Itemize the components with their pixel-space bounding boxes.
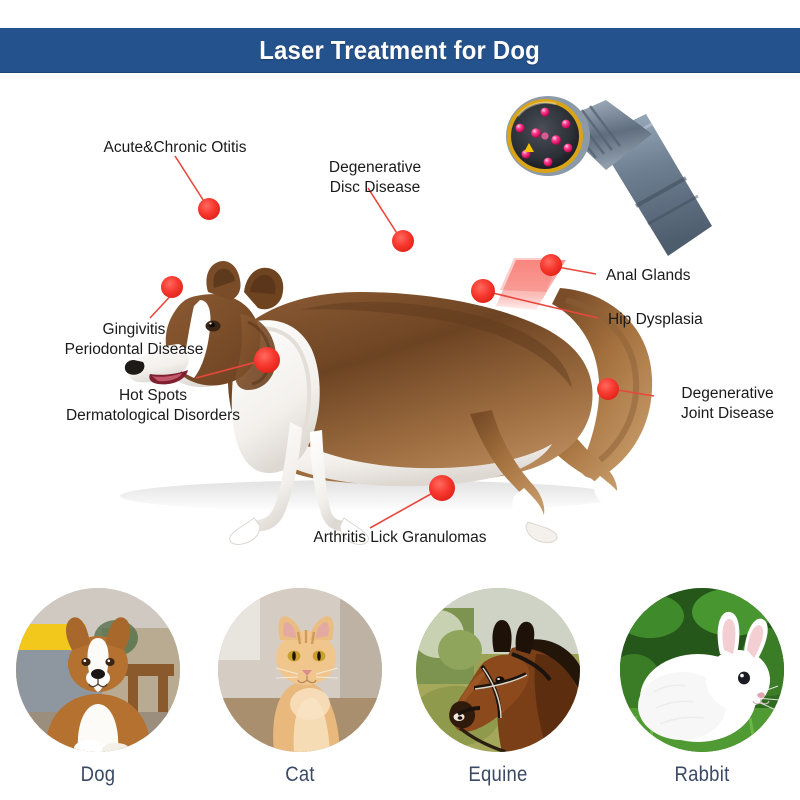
equine-photo [416,588,580,752]
laser-treatment-diagram: Acute&Chronic Otitis Degenerative Disc D… [0,78,800,558]
species-item-dog[interactable]: Dog [14,588,182,787]
callout-hot-spots-dermatological-disorders: Hot Spots Dermatological Disorders [38,386,268,426]
callout-line: Disc Disease [310,178,440,198]
rabbit-thumbnail[interactable] [620,588,784,752]
callout-line: Gingivitis [24,320,244,340]
callout-line: Dermatological Disorders [38,406,268,426]
rabbit-photo [620,588,784,752]
species-item-cat[interactable]: Cat [216,588,384,787]
dog-thumbnail[interactable] [16,588,180,752]
dog-photo [16,588,180,752]
callout-line: Hip Dysplasia [608,310,778,330]
species-label-equine: Equine [424,763,572,787]
marker-gingivitis [161,276,183,298]
header-banner: Laser Treatment for Dog [0,28,800,73]
species-item-equine[interactable]: Equine [414,588,582,787]
cat-thumbnail[interactable] [218,588,382,752]
floor-shadow [120,480,620,512]
callout-line: Periodontal Disease [24,340,244,360]
marker-hip [471,279,495,303]
callout-line: Joint Disease [660,404,795,424]
callout-line: Hot Spots [38,386,268,406]
equine-thumbnail[interactable] [416,588,580,752]
callout-arthritis-lick-granulomas: Arthritis Lick Granulomas [280,528,520,548]
callout-gingivitis-periodontal-disease: Gingivitis Periodontal Disease [24,320,244,360]
callout-acute-chronic-otitis: Acute&Chronic Otitis [90,138,260,158]
callout-line: Arthritis Lick Granulomas [280,528,520,548]
page-title: Laser Treatment for Dog [260,35,541,66]
laser-device [506,96,712,256]
cat-photo [218,588,382,752]
callout-anal-glands: Anal Glands [606,266,776,286]
marker-otitis [198,198,220,220]
page-root: Laser Treatment for Dog [0,0,800,800]
species-thumbnail-row: Dog [0,570,800,800]
callout-line: Degenerative [310,158,440,178]
callout-line: Acute&Chronic Otitis [90,138,260,158]
marker-disc [392,230,414,252]
marker-anal [540,254,562,276]
species-label-rabbit: Rabbit [628,763,776,787]
callout-degenerative-joint-disease: Degenerative Joint Disease [660,384,795,424]
marker-hotspots [254,347,280,373]
callout-line: Degenerative [660,384,795,404]
species-label-dog: Dog [24,763,172,787]
marker-arthritis [429,475,455,501]
marker-joint [597,378,619,400]
callout-hip-dysplasia: Hip Dysplasia [608,310,778,330]
species-label-cat: Cat [226,763,374,787]
callout-degenerative-disc-disease: Degenerative Disc Disease [310,158,440,198]
callout-line: Anal Glands [606,266,776,286]
species-item-rabbit[interactable]: Rabbit [618,588,786,787]
